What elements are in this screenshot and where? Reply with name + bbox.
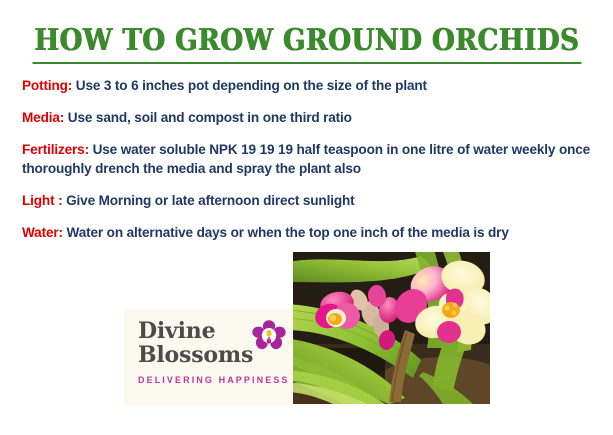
ground-orchid-photo-illustration <box>293 252 490 404</box>
care-label-water: Water: <box>22 225 63 240</box>
page-title: HOW TO GROW GROUND ORCHIDS <box>32 24 581 64</box>
care-text-potting: Use 3 to 6 inches pot depending on the s… <box>76 78 427 93</box>
orchid-flower-icon <box>252 320 286 350</box>
brand-logo: Divine Blossoms DELIVERING HAPPINESS <box>124 309 292 405</box>
care-instructions-list: Potting: Use 3 to 6 inches pot depending… <box>22 76 594 255</box>
ground-orchid-photo <box>293 252 490 404</box>
page-title-container: HOW TO GROW GROUND ORCHIDS <box>0 24 613 64</box>
care-label-potting: Potting: <box>22 78 72 93</box>
care-line-media: Media: Use sand, soil and compost in one… <box>22 108 594 127</box>
care-text-light: Give Morning or late afternoon direct su… <box>66 193 354 208</box>
care-label-media: Media: <box>22 110 64 125</box>
care-line-fertilizers: Fertilizers: Use water soluble NPK 19 19… <box>22 140 594 178</box>
care-text-media: Use sand, soil and compost in one third … <box>68 110 352 125</box>
care-line-potting: Potting: Use 3 to 6 inches pot depending… <box>22 76 594 95</box>
care-label-fertilizers: Fertilizers: <box>22 142 89 157</box>
brand-name-block: Divine Blossoms <box>138 319 284 367</box>
care-label-light: Light : <box>22 193 62 208</box>
brand-tagline: DELIVERING HAPPINESS <box>138 375 290 385</box>
care-text-fertilizers: Use water soluble NPK 19 19 19 half teas… <box>22 142 590 176</box>
care-line-water: Water: Water on alternative days or when… <box>22 223 594 242</box>
care-text-water: Water on alternative days or when the to… <box>67 225 509 240</box>
care-line-light: Light : Give Morning or late afternoon d… <box>22 191 594 210</box>
